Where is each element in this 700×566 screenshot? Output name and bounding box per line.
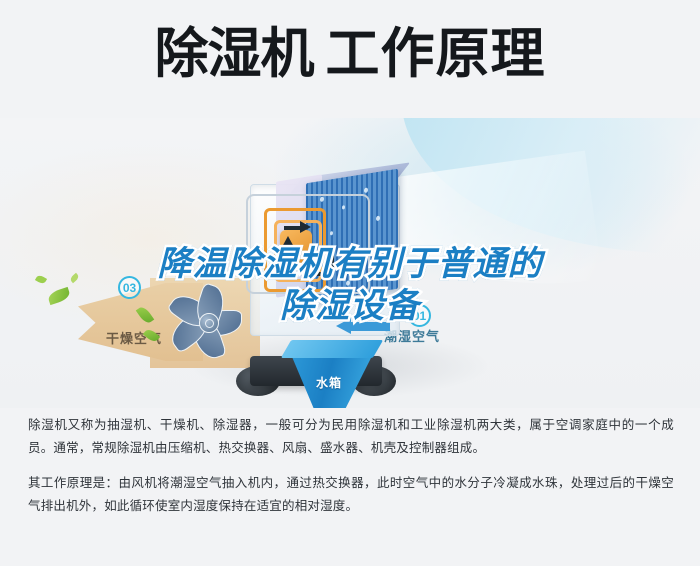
arrow-icon [286,246,290,262]
dry-air-badge: 03 [118,276,141,299]
water-tank-rim [281,340,383,358]
water-droplet [364,187,368,193]
water-droplet [370,269,373,273]
air-intake-arrow [336,318,390,334]
infographic-page: 除湿机工作原理 03 干燥空气 02 热交换器 01 潮湿空气 [0,0,700,566]
page-title-part1: 除湿机 [155,24,314,84]
compressor-assembly [262,204,334,294]
illustration-stage: 03 干燥空气 02 热交换器 01 潮湿空气 [0,118,700,408]
water-tank-label: 水箱 [316,374,342,391]
body-text: 除湿机又称为抽湿机、干燥机、除湿器，一般可分为民用除湿机和工业除湿机两大类，属于… [28,414,674,530]
arrow-shaft [350,322,390,331]
arrow-icon [284,226,300,230]
arrow-icon [282,236,294,247]
paragraph-1: 除湿机又称为抽湿机、干燥机、除湿器，一般可分为民用除湿机和工业除湿机两大类，属于… [28,414,674,460]
page-title-part2: 工作原理 [326,24,546,84]
water-droplet [376,216,380,222]
arrow-head [336,318,351,334]
arrow-icon [300,221,311,233]
fan-hub [199,313,219,333]
arrow-icon [326,264,338,275]
water-tank: 水箱 [286,340,378,408]
paragraph-2: 其工作原理是：由风机将潮湿空气抽入机内，通过热交换器，此时空气中的水分子冷凝成水… [28,472,674,518]
arrow-icon [310,272,324,276]
page-title: 除湿机工作原理 [0,22,700,86]
arrow-icon [300,267,311,279]
dehumidifier-cutaway [236,168,414,358]
fan-icon [168,280,260,366]
